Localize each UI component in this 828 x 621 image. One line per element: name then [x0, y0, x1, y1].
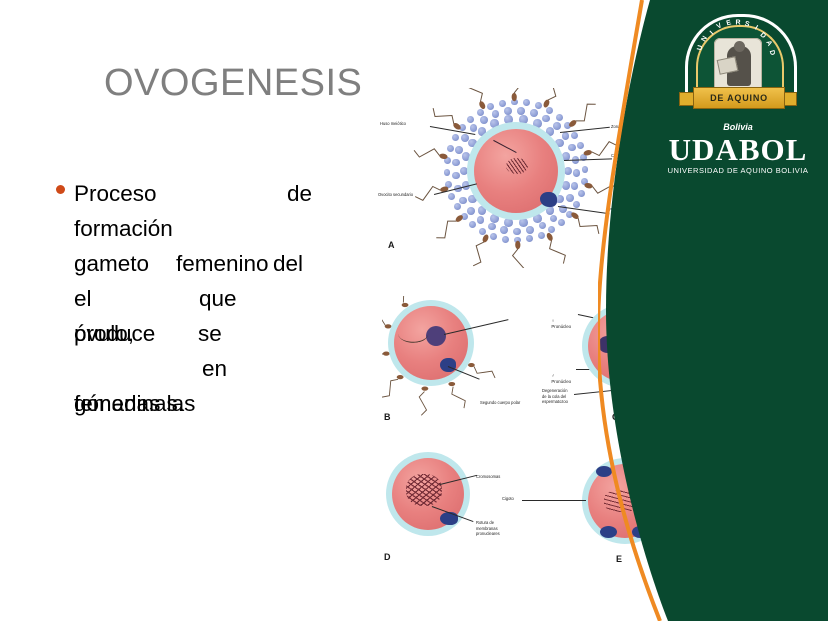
sperm-head: [468, 363, 475, 367]
sperm-tail: [592, 185, 617, 193]
sperm-head: [448, 382, 455, 386]
crest-arc-letter: E: [725, 20, 731, 28]
sperm-head: [542, 99, 550, 109]
sperm-head: [584, 182, 593, 189]
polar-body: [596, 466, 612, 477]
diagram-panel-a: Huso meiótico Zona pelúcida Corona radia…: [408, 88, 638, 253]
text-segment: en: [202, 351, 227, 386]
text-overlay-segment: del: [273, 246, 303, 281]
label-degeneracion-cola: Degeneración de la cola del espermatozoo: [542, 388, 568, 405]
udabol-logo: UNIVERSIDAD DE AQUINO Bolivia UDABOL UNI…: [658, 14, 818, 175]
page-title: OVOGENESIS: [104, 62, 362, 105]
text-segment: femenino: [176, 246, 269, 281]
polar-bodies: [632, 362, 654, 378]
ribbon-tail-right: [777, 92, 797, 106]
sperm-head: [515, 241, 520, 250]
text-segment: de: [287, 176, 312, 211]
text-line: formación: [74, 211, 342, 246]
sperm-tail: [433, 108, 454, 124]
panel-letter-d: D: [384, 552, 391, 562]
embryology-diagram: Huso meiótico Zona pelúcida Corona radia…: [378, 88, 668, 588]
diagram-panel-d: Cromosomas Rotura de membranas pronuclea…: [384, 450, 504, 570]
male-symbol-icon: ♂: [551, 373, 554, 378]
text-segment: gameto: [74, 246, 149, 281]
text-line: femeninas. gónadas las: [74, 386, 342, 421]
crest-arc-letter: D: [759, 31, 768, 40]
text-segment: formación: [74, 211, 173, 246]
label-rotura-membranas: Rotura de membranas pronucleares: [476, 520, 500, 537]
wordmark-subtitle: UNIVERSIDAD DE AQUINO BOLIVIA: [658, 166, 818, 175]
crest-arc-letter: U: [697, 44, 705, 51]
leader-line: [522, 500, 586, 501]
label-ovocito-secundario: Ovocito secundario: [378, 192, 413, 198]
crest-arc-letter: I: [709, 30, 715, 36]
sperm-head: [478, 100, 486, 110]
label-pronucleo-text: Pronúcleo: [551, 379, 571, 384]
sperm-tail: [436, 221, 456, 238]
panel-letter-a: A: [388, 240, 395, 250]
crest-scholar-figure: [714, 38, 762, 92]
crest-arc-letter: V: [716, 23, 724, 31]
diagram-panel-c: Primero y segundo cuerpos polares C: [570, 300, 680, 425]
crest-arc-letter: N: [701, 35, 710, 43]
text-segment: se: [198, 316, 222, 351]
crest-arc-letter: R: [735, 20, 740, 27]
ribbon-center: DE AQUINO: [693, 87, 785, 109]
crest-arc-text: UNIVERSIDAD: [685, 17, 791, 103]
sperm-tail: [578, 218, 599, 234]
sperm-tail: [513, 249, 524, 268]
sperm-head: [454, 214, 464, 223]
sperm-head: [568, 119, 578, 128]
text-overlay-segment: óvulo,: [74, 316, 134, 351]
label-huso-segmentacion: Huso de segmentación: [624, 444, 666, 450]
diagram-panel-e: Huso de segmentación Cigoto E: [574, 448, 684, 573]
label-cuerpos-polares: Primero y segundo cuerpos polares: [668, 384, 702, 395]
sperm-tail: [474, 366, 495, 378]
slide-canvas: OVOGENESIS Proceso de formación gameto f…: [0, 0, 828, 621]
sperm-tail: [389, 296, 403, 303]
figure-head: [734, 41, 745, 52]
sperm-head: [511, 93, 516, 102]
text-segment: que: [199, 281, 237, 316]
body-text-block: Proceso de formación gameto femenino del…: [44, 176, 344, 421]
text-segment: el: [74, 281, 92, 316]
bullet-icon: [56, 185, 65, 194]
sperm-head: [481, 234, 489, 244]
sperm-tail: [548, 88, 559, 100]
sperm-head: [545, 232, 553, 242]
crest-bolivia-label: Bolivia: [658, 122, 818, 132]
text-line: en: [74, 351, 342, 386]
label-pronucleo-text: Pronúcleo: [551, 324, 571, 329]
sperm-tail: [467, 88, 483, 102]
label-segundo-cuerpo-polar: Segundo cuerpo polar: [480, 400, 520, 406]
text-line: produce óvulo, se: [74, 316, 342, 351]
label-primer-cuerpo-polar: Primer cuerpo polar: [609, 207, 645, 213]
sperm-tail: [382, 379, 398, 397]
sperm-tail: [473, 242, 484, 266]
crest-arc-letter: A: [764, 40, 773, 48]
panel-letter-c: C: [612, 412, 619, 422]
panel-letter-b: B: [384, 412, 391, 422]
chromosomes: [406, 474, 442, 506]
text-line: gameto femenino del: [74, 246, 342, 281]
crest-arc-letter: I: [754, 25, 759, 32]
polar-body: [632, 526, 648, 538]
polar-body: [600, 526, 617, 538]
text-lines: Proceso de formación gameto femenino del…: [74, 176, 342, 421]
label-corona-radiada: Corona radiada: [611, 153, 639, 159]
diagram-panel-b: Segundo cuerpo polar B: [382, 296, 492, 421]
sperm-tail: [576, 104, 596, 121]
label-huso-meiotico: Huso meiótico: [380, 121, 406, 127]
sperm-head: [421, 386, 428, 390]
crest-arc-inner: [696, 25, 784, 102]
female-symbol-icon: ♀: [551, 318, 554, 323]
ribbon-label: DE AQUINO: [710, 93, 768, 103]
crest-ribbon: DE AQUINO: [679, 86, 797, 109]
sperm-tail: [508, 88, 519, 93]
female-pronucleus: [426, 326, 446, 346]
label-zona-pelucida: Zona pelúcida: [611, 124, 637, 130]
wordmark: UDABOL: [658, 134, 818, 165]
sperm-head: [439, 153, 448, 160]
text-overlay-segment: gónadas las: [74, 386, 195, 421]
first-polar-body: [540, 192, 557, 207]
sperm-tail: [414, 149, 439, 157]
ribbon-tail-left: [679, 92, 699, 106]
crest-arc-outer: [685, 14, 797, 103]
sperm-tail: [419, 392, 426, 416]
text-segment: Proceso: [74, 176, 157, 211]
panel-letter-e: E: [616, 554, 622, 564]
sperm-tail: [382, 317, 385, 326]
figure-book: [717, 56, 739, 75]
figure-body: [727, 46, 751, 86]
label-cromosomas: Cromosomas: [476, 474, 500, 480]
crest-icon: UNIVERSIDAD DE AQUINO: [679, 14, 797, 122]
crest-arc-letter: S: [744, 21, 750, 29]
meiotic-spindle-chromosomes: [506, 158, 528, 174]
female-pronucleus: [626, 326, 644, 343]
sperm-head: [583, 149, 592, 156]
text-line: el que: [74, 281, 342, 316]
text-line: Proceso de: [74, 176, 342, 211]
label-female-pronucleus: ♀ Pronúcleo: [544, 312, 571, 336]
cleavage-spindle: [604, 490, 638, 512]
sperm-tail: [550, 240, 566, 263]
label-cigoto: Cigoto: [502, 496, 514, 502]
male-pronucleus: [598, 336, 617, 353]
sperm-tail: [452, 387, 465, 408]
crest-arc-letter: D: [767, 49, 775, 56]
